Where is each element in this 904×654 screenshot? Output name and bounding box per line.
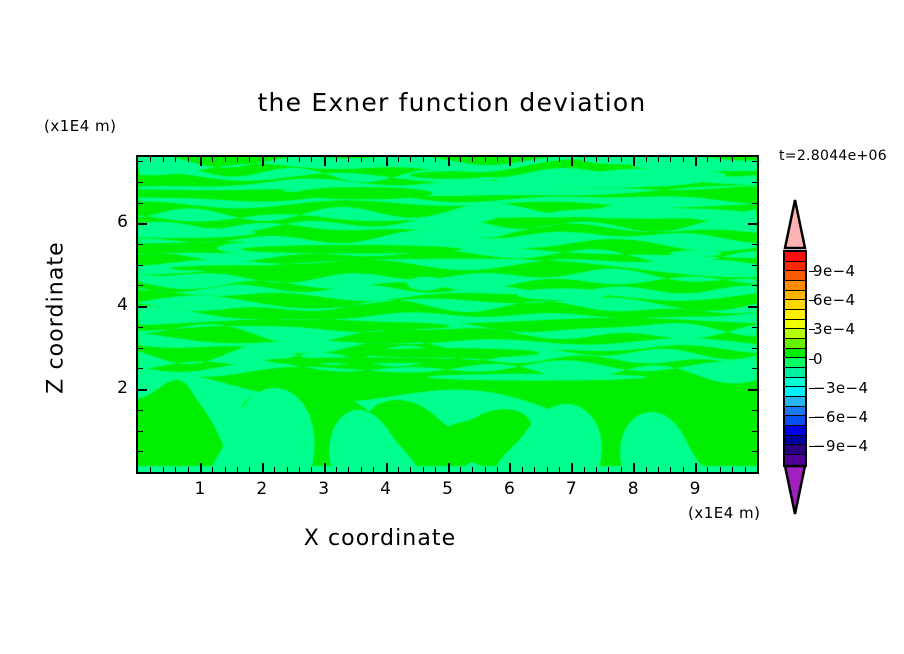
x-tick-bottom xyxy=(200,463,202,472)
x-tick-label: 9 xyxy=(675,479,715,499)
colorbar-tick-label: 3e−4 xyxy=(813,320,855,338)
colorbar-band xyxy=(785,368,805,378)
y-tick-left xyxy=(138,410,143,411)
x-tick-bottom xyxy=(621,467,622,472)
x-tick-top xyxy=(348,157,349,162)
contour-field xyxy=(138,157,757,472)
y-axis-title: Z coordinate xyxy=(44,218,69,418)
y-tick-label: 2 xyxy=(98,378,128,398)
y-tick-left xyxy=(138,389,147,391)
x-tick-top xyxy=(200,157,202,166)
x-tick-bottom xyxy=(299,467,300,472)
y-axis-units-label: (x1E4 m) xyxy=(44,117,117,135)
x-tick-top xyxy=(150,157,151,162)
x-tick-top xyxy=(522,157,523,162)
x-tick-bottom xyxy=(175,467,176,472)
x-tick-top xyxy=(175,157,176,162)
x-tick-top xyxy=(249,157,250,162)
x-tick-top xyxy=(658,157,659,162)
x-tick-top xyxy=(163,157,164,162)
x-tick-top xyxy=(608,157,609,162)
y-tick-left xyxy=(138,161,143,162)
x-tick-bottom xyxy=(249,467,250,472)
x-tick-bottom xyxy=(410,467,411,472)
x-tick-bottom xyxy=(596,467,597,472)
y-tick-left xyxy=(138,327,143,328)
colorbar-band xyxy=(785,407,805,417)
x-tick-bottom xyxy=(361,467,362,472)
colorbar-under-arrow xyxy=(783,464,807,516)
x-tick-bottom xyxy=(163,467,164,472)
x-tick-bottom xyxy=(745,467,746,472)
colorbar-band xyxy=(785,426,805,436)
x-tick-bottom xyxy=(608,467,609,472)
x-tick-top xyxy=(621,157,622,162)
y-tick-left xyxy=(138,223,147,225)
x-tick-top xyxy=(485,157,486,162)
colorbar-band xyxy=(785,416,805,426)
x-tick-bottom xyxy=(188,467,189,472)
colorbar-band xyxy=(785,329,805,339)
y-tick-left xyxy=(138,285,143,286)
x-tick-top xyxy=(534,157,535,162)
x-tick-bottom xyxy=(720,467,721,472)
colorbar-band xyxy=(785,300,805,310)
colorbar-band xyxy=(785,436,805,446)
x-tick-bottom xyxy=(373,467,374,472)
colorbar-tick-label: 6e−4 xyxy=(813,291,855,309)
y-tick-left xyxy=(138,182,143,183)
x-tick-top xyxy=(720,157,721,162)
y-tick-left xyxy=(138,368,143,369)
x-tick-top xyxy=(497,157,498,162)
colorbar-band xyxy=(785,310,805,320)
x-tick-bottom xyxy=(435,467,436,472)
x-tick-top xyxy=(361,157,362,162)
y-tick-left xyxy=(138,306,147,308)
x-tick-top xyxy=(423,157,424,162)
colorbar-band xyxy=(785,445,805,455)
x-tick-top xyxy=(547,157,548,162)
x-tick-top xyxy=(460,157,461,162)
x-tick-bottom xyxy=(485,467,486,472)
x-tick-top xyxy=(324,157,326,166)
x-tick-top xyxy=(707,157,708,162)
x-tick-bottom xyxy=(311,467,312,472)
x-tick-top xyxy=(336,157,337,162)
x-tick-top xyxy=(435,157,436,162)
x-tick-bottom xyxy=(423,467,424,472)
y-tick-right xyxy=(752,431,757,432)
x-tick-bottom xyxy=(646,467,647,472)
colorbar-band xyxy=(785,262,805,272)
x-tick-top xyxy=(212,157,213,162)
x-tick-top xyxy=(287,157,288,162)
x-axis-units-label: (x1E4 m) xyxy=(688,504,761,522)
y-tick-right xyxy=(752,265,757,266)
x-tick-label: 8 xyxy=(613,479,653,499)
colorbar-band xyxy=(785,358,805,368)
y-tick-right xyxy=(752,161,757,162)
colorbar-band xyxy=(785,291,805,301)
y-tick-left xyxy=(138,203,143,204)
x-tick-bottom xyxy=(633,463,635,472)
x-tick-bottom xyxy=(683,467,684,472)
x-tick-label: 7 xyxy=(551,479,591,499)
x-tick-top xyxy=(410,157,411,162)
x-tick-top xyxy=(732,157,733,162)
x-tick-bottom xyxy=(386,463,388,472)
y-tick-right xyxy=(752,203,757,204)
y-tick-left xyxy=(138,451,143,452)
x-tick-top xyxy=(571,157,573,166)
x-tick-top xyxy=(633,157,635,166)
colorbar-tick-label: 0 xyxy=(813,350,823,368)
x-tick-bottom xyxy=(472,467,473,472)
x-tick-bottom xyxy=(398,467,399,472)
y-tick-label: 4 xyxy=(98,295,128,315)
x-tick-top xyxy=(646,157,647,162)
x-tick-top xyxy=(262,157,264,166)
colorbar-band xyxy=(785,349,805,359)
x-tick-bottom xyxy=(584,467,585,472)
x-tick-bottom xyxy=(571,463,573,472)
x-tick-top xyxy=(695,157,697,166)
x-tick-top xyxy=(683,157,684,162)
colorbar-tick-label: −9e−4 xyxy=(813,437,868,455)
x-tick-label: 5 xyxy=(428,479,468,499)
x-tick-bottom xyxy=(559,467,560,472)
x-tick-top xyxy=(311,157,312,162)
colorbar-tick-label: −6e−4 xyxy=(813,408,868,426)
x-tick-bottom xyxy=(732,467,733,472)
x-tick-label: 1 xyxy=(180,479,220,499)
x-tick-label: 4 xyxy=(366,479,406,499)
x-tick-bottom xyxy=(225,467,226,472)
x-tick-label: 6 xyxy=(489,479,529,499)
y-tick-label: 6 xyxy=(98,212,128,232)
x-tick-label: 3 xyxy=(304,479,344,499)
y-tick-right xyxy=(752,410,757,411)
colorbar-tick-label: 9e−4 xyxy=(813,262,855,280)
colorbar-band xyxy=(785,378,805,388)
colorbar-band xyxy=(785,271,805,281)
x-tick-bottom xyxy=(695,463,697,472)
x-tick-top xyxy=(670,157,671,162)
x-tick-top xyxy=(237,157,238,162)
x-tick-bottom xyxy=(707,467,708,472)
x-tick-top xyxy=(596,157,597,162)
x-tick-bottom xyxy=(670,467,671,472)
colorbar-band xyxy=(785,339,805,349)
colorbar-tick-label: −3e−4 xyxy=(813,379,868,397)
y-tick-left xyxy=(138,348,143,349)
y-tick-right xyxy=(752,182,757,183)
y-tick-right xyxy=(752,368,757,369)
colorbar-over-arrow xyxy=(783,198,807,250)
x-tick-bottom xyxy=(534,467,535,472)
x-tick-top xyxy=(274,157,275,162)
x-tick-top xyxy=(299,157,300,162)
y-tick-right xyxy=(748,389,757,391)
x-tick-bottom xyxy=(509,463,511,472)
x-tick-top xyxy=(225,157,226,162)
x-tick-bottom xyxy=(237,467,238,472)
x-tick-top xyxy=(745,157,746,162)
y-tick-right xyxy=(748,306,757,308)
colorbar-bands xyxy=(783,250,807,467)
colorbar-band xyxy=(785,397,805,407)
y-tick-right xyxy=(752,327,757,328)
x-tick-bottom xyxy=(262,463,264,472)
x-tick-bottom xyxy=(336,467,337,472)
x-tick-top xyxy=(386,157,388,166)
x-tick-bottom xyxy=(150,467,151,472)
y-tick-right xyxy=(748,223,757,225)
y-tick-left xyxy=(138,431,143,432)
y-tick-right xyxy=(752,348,757,349)
colorbar-band xyxy=(785,281,805,291)
x-tick-bottom xyxy=(324,463,326,472)
y-tick-left xyxy=(138,244,143,245)
y-tick-right xyxy=(752,451,757,452)
x-tick-bottom xyxy=(448,463,450,472)
x-tick-top xyxy=(509,157,511,166)
x-tick-label: 2 xyxy=(242,479,282,499)
x-tick-top xyxy=(448,157,450,166)
x-tick-bottom xyxy=(274,467,275,472)
contour-plot-area xyxy=(136,155,759,474)
x-tick-top xyxy=(559,157,560,162)
time-annotation: t=2.8044e+06 xyxy=(779,148,887,164)
x-tick-top xyxy=(584,157,585,162)
x-tick-top xyxy=(188,157,189,162)
x-tick-bottom xyxy=(547,467,548,472)
x-tick-bottom xyxy=(460,467,461,472)
x-tick-bottom xyxy=(497,467,498,472)
x-tick-top xyxy=(398,157,399,162)
x-axis-title: X coordinate xyxy=(0,526,760,551)
y-tick-right xyxy=(752,244,757,245)
x-tick-bottom xyxy=(287,467,288,472)
colorbar-band xyxy=(785,252,805,262)
x-tick-bottom xyxy=(658,467,659,472)
page-title: the Exner function deviation xyxy=(0,88,904,117)
y-tick-right xyxy=(752,285,757,286)
x-tick-bottom xyxy=(212,467,213,472)
x-tick-top xyxy=(373,157,374,162)
colorbar-band xyxy=(785,387,805,397)
x-tick-top xyxy=(472,157,473,162)
colorbar: 9e−46e−43e−40−3e−4−6e−4−9e−4 xyxy=(783,198,807,516)
colorbar-band xyxy=(785,320,805,330)
y-tick-left xyxy=(138,265,143,266)
x-tick-bottom xyxy=(522,467,523,472)
x-tick-bottom xyxy=(348,467,349,472)
